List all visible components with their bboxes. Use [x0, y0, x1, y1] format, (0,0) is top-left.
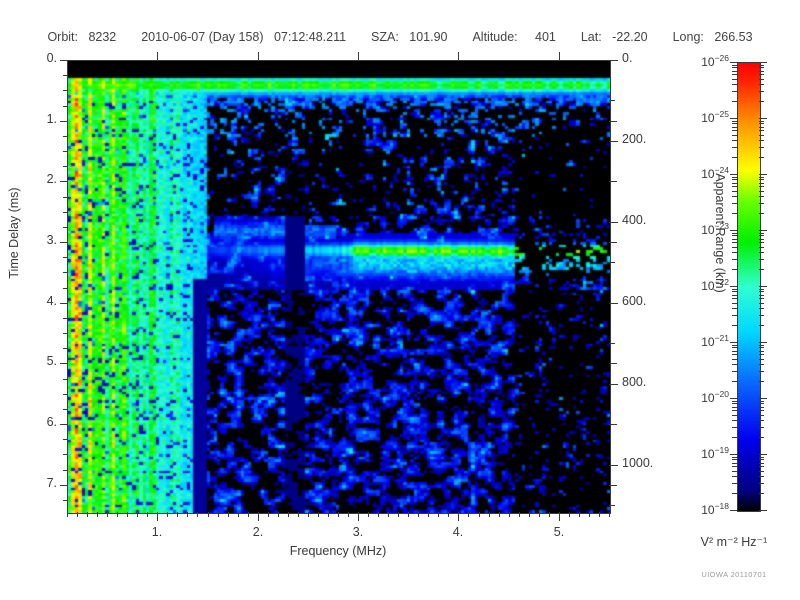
colorbar-minor-tick: [732, 196, 737, 197]
colorbar-minor-tick: [732, 347, 737, 348]
colorbar-minor-tick: [759, 135, 764, 136]
axis-tick: [258, 52, 259, 60]
axis-tick: [288, 512, 289, 517]
axis-tick: [63, 333, 68, 334]
colorbar-minor-tick: [759, 65, 764, 66]
axis-tick: [63, 257, 68, 258]
colorbar-minor-tick: [759, 345, 764, 346]
axis-tick: [328, 512, 329, 517]
axis-tick: [519, 512, 520, 517]
colorbar-minor-tick: [732, 303, 737, 304]
axis-tick: [63, 318, 68, 319]
ionogram-heatmap: [68, 61, 610, 513]
axis-tick: [609, 424, 615, 425]
axis-tick: [117, 512, 118, 517]
colorbar-minor-tick: [732, 483, 737, 484]
colorbar-minor-tick: [732, 427, 737, 428]
colorbar-minor-tick: [732, 463, 737, 464]
colorbar-tick: [730, 118, 738, 119]
axis-tick: [60, 242, 68, 243]
latitude-label: Lat:: [581, 30, 602, 44]
axis-tick: [63, 166, 68, 167]
x-tick-label: 4.: [438, 525, 478, 539]
colorbar-minor-tick: [759, 191, 764, 192]
colorbar-tick-label: 10−21: [673, 333, 729, 349]
colorbar-tick: [730, 510, 738, 511]
orbit-value: 8232: [88, 30, 116, 44]
colorbar-minor-tick: [759, 179, 764, 180]
axis-tick: [278, 512, 279, 517]
axis-tick: [60, 485, 68, 486]
axis-tick: [107, 512, 108, 517]
colorbar-minor-tick: [759, 242, 764, 243]
colorbar-minor-tick: [732, 381, 737, 382]
colorbar-minor-tick: [732, 235, 737, 236]
colorbar-minor-tick: [759, 130, 764, 131]
colorbar-tick: [759, 118, 767, 119]
colorbar-minor-tick: [759, 407, 764, 408]
axis-tick: [458, 52, 459, 60]
colorbar-minor-tick: [759, 401, 764, 402]
axis-tick: [458, 512, 459, 521]
colorbar-minor-tick: [732, 371, 737, 372]
colorbar-minor-tick: [732, 242, 737, 243]
sza-value: 101.90: [409, 30, 447, 44]
colorbar-minor-tick: [732, 437, 737, 438]
colorbar-minor-tick: [732, 130, 737, 131]
colorbar-minor-tick: [759, 420, 764, 421]
axis-tick: [438, 512, 439, 517]
colorbar-tick: [730, 230, 738, 231]
axis-tick: [298, 512, 299, 517]
x-tick-label: 5.: [539, 525, 579, 539]
colorbar-minor-tick: [759, 298, 764, 299]
latitude-value: -22.20: [612, 30, 647, 44]
colorbar-tick-label: 10−25: [673, 109, 729, 125]
axis-tick: [468, 512, 469, 517]
axis-tick: [60, 121, 68, 122]
axis-tick: [60, 181, 68, 182]
colorbar-tick: [759, 286, 767, 287]
colorbar-tick: [730, 342, 738, 343]
colorbar-minor-tick: [759, 457, 764, 458]
colorbar-tick: [759, 62, 767, 63]
axis-tick: [609, 343, 615, 344]
colorbar-minor-tick: [759, 325, 764, 326]
colorbar-minor-tick: [732, 325, 737, 326]
axis-tick: [378, 512, 379, 517]
colorbar-minor-tick: [732, 359, 737, 360]
colorbar-minor-tick: [759, 157, 764, 158]
axis-tick: [428, 512, 429, 517]
colorbar-minor-tick: [732, 269, 737, 270]
colorbar-minor-tick: [759, 239, 764, 240]
axis-tick: [609, 303, 618, 304]
colorbar-tick: [730, 286, 738, 287]
axis-tick: [489, 512, 490, 517]
axis-tick: [63, 379, 68, 380]
colorbar-minor-tick: [759, 371, 764, 372]
colorbar-tick: [759, 342, 767, 343]
axis-tick: [197, 512, 198, 517]
colorbar-minor-tick: [759, 493, 764, 494]
colorbar-minor-tick: [759, 351, 764, 352]
colorbar-minor-tick: [732, 183, 737, 184]
axis-tick: [609, 60, 618, 61]
colorbar-minor-tick: [732, 101, 737, 102]
colorbar-minor-tick: [759, 381, 764, 382]
colorbar-minor-tick: [759, 121, 764, 122]
axis-tick: [348, 512, 349, 517]
axis-tick: [63, 151, 68, 152]
y2-tick-label: 800.: [622, 375, 682, 389]
colorbar-minor-tick: [759, 459, 764, 460]
colorbar-tick: [759, 230, 767, 231]
colorbar-minor-tick: [759, 303, 764, 304]
colorbar-minor-tick: [759, 289, 764, 290]
axis-tick: [479, 512, 480, 517]
axis-tick: [499, 512, 500, 517]
colorbar-minor-tick: [732, 351, 737, 352]
colorbar-minor-tick: [759, 471, 764, 472]
colorbar-minor-tick: [759, 91, 764, 92]
axis-tick: [60, 424, 68, 425]
axis-tick: [268, 512, 269, 517]
colorbar-minor-tick: [759, 84, 764, 85]
observation-date: 2010-06-07 (Day 158): [141, 30, 263, 44]
colorbar-minor-tick: [732, 407, 737, 408]
axis-tick: [63, 106, 68, 107]
axis-tick: [418, 512, 419, 517]
axis-tick: [609, 485, 617, 486]
axis-tick: [63, 439, 68, 440]
colorbar-tick: [730, 174, 738, 175]
axis-tick: [63, 90, 68, 91]
axis-tick: [609, 505, 615, 506]
colorbar-minor-tick: [732, 79, 737, 80]
colorbar-minor-tick: [759, 147, 764, 148]
colorbar-minor-tick: [732, 252, 737, 253]
colorbar-tick-label: 10−23: [673, 221, 729, 237]
orbit-label: Orbit:: [47, 30, 78, 44]
colorbar-minor-tick: [732, 420, 737, 421]
colorbar-minor-tick: [759, 354, 764, 355]
x-tick-label: 3.: [338, 525, 378, 539]
axis-tick: [609, 363, 617, 364]
y-axis-label: Time Delay (ms): [7, 153, 21, 313]
y-tick-label: 0.: [13, 51, 57, 65]
colorbar-minor-tick: [759, 79, 764, 80]
colorbar-minor-tick: [732, 345, 737, 346]
colorbar-tick: [730, 62, 738, 63]
axis-tick: [308, 512, 309, 517]
axis-tick: [559, 512, 560, 521]
axis-tick: [398, 512, 399, 517]
axis-tick: [368, 512, 369, 517]
axis-tick: [63, 197, 68, 198]
colorbar-minor-tick: [759, 295, 764, 296]
axis-tick: [609, 181, 615, 182]
axis-tick: [228, 512, 229, 517]
axis-tick: [609, 465, 618, 466]
colorbar-tick-label: 10−18: [673, 501, 729, 517]
colorbar-minor-tick: [759, 127, 764, 128]
colorbar-tick: [759, 454, 767, 455]
axis-tick: [609, 512, 610, 517]
colorbar-tick: [759, 510, 767, 511]
colorbar-minor-tick: [732, 123, 737, 124]
axis-tick: [579, 512, 580, 517]
axis-tick: [63, 470, 68, 471]
axis-tick: [569, 512, 570, 517]
colorbar-tick: [759, 174, 767, 175]
colorbar-minor-tick: [732, 233, 737, 234]
colorbar-minor-tick: [732, 364, 737, 365]
colorbar-tick-label: 10−26: [673, 53, 729, 69]
colorbar-minor-tick: [759, 347, 764, 348]
axis-tick: [67, 512, 68, 517]
ionogram-figure: Orbit: 8232 2010-06-07 (Day 158) 07:12:4…: [0, 0, 800, 600]
colorbar-minor-tick: [732, 179, 737, 180]
y-tick-label: 6.: [13, 415, 57, 429]
axis-tick: [318, 512, 319, 517]
axis-tick: [63, 75, 68, 76]
colorbar-minor-tick: [732, 459, 737, 460]
axis-tick: [248, 512, 249, 517]
colorbar-tick-label: 10−24: [673, 165, 729, 181]
axis-tick: [137, 512, 138, 517]
axis-tick: [87, 512, 88, 517]
colorbar-minor-tick: [759, 140, 764, 141]
colorbar-tick-label: 10−20: [673, 389, 729, 405]
longitude-value: 266.53: [714, 30, 752, 44]
axis-tick: [549, 512, 550, 517]
colorbar-minor-tick: [732, 466, 737, 467]
axis-tick: [63, 136, 68, 137]
colorbar-minor-tick: [732, 354, 737, 355]
axis-tick: [609, 242, 617, 243]
colorbar-minor-tick: [732, 410, 737, 411]
colorbar-minor-tick: [732, 213, 737, 214]
colorbar-minor-tick: [732, 247, 737, 248]
colorbar-minor-tick: [732, 457, 737, 458]
colorbar-minor-tick: [759, 483, 764, 484]
colorbar-minor-tick: [732, 71, 737, 72]
axis-tick: [63, 288, 68, 289]
colorbar-minor-tick: [732, 298, 737, 299]
colorbar: [737, 62, 761, 512]
figure-credit: UIOWA 20110701: [668, 570, 800, 579]
colorbar-minor-tick: [732, 315, 737, 316]
colorbar-minor-tick: [732, 157, 737, 158]
colorbar-minor-tick: [759, 123, 764, 124]
axis-tick: [218, 512, 219, 517]
axis-tick: [599, 512, 600, 517]
axis-tick: [238, 512, 239, 517]
axis-tick: [147, 512, 148, 517]
axis-tick: [60, 303, 68, 304]
axis-tick: [358, 512, 359, 521]
axis-tick: [609, 262, 615, 263]
axis-tick: [157, 52, 158, 60]
colorbar-minor-tick: [732, 308, 737, 309]
axis-tick: [609, 100, 615, 101]
colorbar-minor-tick: [732, 147, 737, 148]
colorbar-minor-tick: [732, 191, 737, 192]
colorbar-minor-tick: [759, 186, 764, 187]
colorbar-minor-tick: [759, 315, 764, 316]
colorbar-minor-tick: [759, 71, 764, 72]
observation-time: 07:12:48.211: [274, 30, 346, 44]
sza-label: SZA:: [371, 30, 399, 44]
altitude-label: Altitude:: [472, 30, 517, 44]
colorbar-minor-tick: [732, 127, 737, 128]
axis-tick: [609, 384, 618, 385]
colorbar-minor-tick: [732, 403, 737, 404]
colorbar-minor-tick: [759, 476, 764, 477]
axis-tick: [63, 454, 68, 455]
figure-header: Orbit: 8232 2010-06-07 (Day 158) 07:12:4…: [0, 30, 800, 44]
y2-tick-label: 200.: [622, 132, 682, 146]
colorbar-tick-label: 10−19: [673, 445, 729, 461]
colorbar-minor-tick: [759, 213, 764, 214]
colorbar-tick: [730, 454, 738, 455]
colorbar-minor-tick: [759, 415, 764, 416]
longitude-label: Long:: [673, 30, 704, 44]
y-tick-label: 5.: [13, 354, 57, 368]
colorbar-minor-tick: [732, 84, 737, 85]
ionogram-plot-area: [67, 60, 611, 514]
axis-tick: [609, 141, 618, 142]
axis-tick: [509, 512, 510, 517]
axis-tick: [63, 409, 68, 410]
colorbar-minor-tick: [732, 65, 737, 66]
axis-tick: [63, 500, 68, 501]
colorbar-minor-tick: [732, 471, 737, 472]
colorbar-minor-tick: [732, 289, 737, 290]
colorbar-minor-tick: [759, 252, 764, 253]
x-tick-label: 1.: [137, 525, 177, 539]
colorbar-minor-tick: [759, 101, 764, 102]
axis-tick: [127, 512, 128, 517]
colorbar-minor-tick: [759, 269, 764, 270]
x-tick-label: 2.: [238, 525, 278, 539]
axis-tick: [258, 512, 259, 521]
colorbar-minor-tick: [732, 259, 737, 260]
axis-tick: [589, 512, 590, 517]
axis-tick: [60, 60, 68, 61]
colorbar-minor-tick: [759, 359, 764, 360]
axis-tick: [187, 512, 188, 517]
colorbar-tick: [730, 398, 738, 399]
colorbar-minor-tick: [759, 427, 764, 428]
colorbar-minor-tick: [732, 177, 737, 178]
axis-tick: [157, 512, 158, 521]
axis-tick: [97, 512, 98, 517]
colorbar-gradient: [738, 63, 760, 511]
colorbar-minor-tick: [732, 203, 737, 204]
colorbar-minor-tick: [759, 463, 764, 464]
colorbar-minor-tick: [759, 259, 764, 260]
colorbar-unit-label: V² m⁻² Hz⁻¹: [668, 534, 800, 549]
colorbar-minor-tick: [759, 233, 764, 234]
colorbar-minor-tick: [759, 308, 764, 309]
colorbar-minor-tick: [759, 183, 764, 184]
colorbar-minor-tick: [759, 410, 764, 411]
axis-tick: [167, 512, 168, 517]
altitude-value: 401: [535, 30, 556, 44]
axis-tick: [208, 512, 209, 517]
colorbar-minor-tick: [759, 364, 764, 365]
axis-tick: [609, 222, 618, 223]
axis-tick: [63, 227, 68, 228]
colorbar-minor-tick: [759, 437, 764, 438]
colorbar-minor-tick: [732, 135, 737, 136]
colorbar-minor-tick: [759, 466, 764, 467]
colorbar-minor-tick: [732, 67, 737, 68]
axis-tick: [388, 512, 389, 517]
colorbar-minor-tick: [759, 177, 764, 178]
axis-tick: [177, 512, 178, 517]
x-axis-label: Frequency (MHz): [67, 544, 609, 558]
colorbar-minor-tick: [732, 186, 737, 187]
axis-tick: [539, 512, 540, 517]
colorbar-tick: [759, 398, 767, 399]
colorbar-tick-label: 10−22: [673, 277, 729, 293]
axis-tick: [529, 512, 530, 517]
y2-tick-label: 600.: [622, 294, 682, 308]
colorbar-minor-tick: [732, 401, 737, 402]
axis-tick: [63, 212, 68, 213]
colorbar-minor-tick: [759, 247, 764, 248]
axis-tick: [63, 394, 68, 395]
colorbar-minor-tick: [759, 235, 764, 236]
colorbar-minor-tick: [732, 291, 737, 292]
axis-tick: [448, 512, 449, 517]
axis-tick: [559, 52, 560, 60]
colorbar-minor-tick: [732, 121, 737, 122]
axis-tick: [609, 121, 617, 122]
colorbar-minor-tick: [732, 415, 737, 416]
colorbar-minor-tick: [732, 239, 737, 240]
axis-tick: [77, 512, 78, 517]
colorbar-minor-tick: [759, 403, 764, 404]
y-tick-label: 1.: [13, 112, 57, 126]
colorbar-minor-tick: [732, 493, 737, 494]
axis-tick: [338, 512, 339, 517]
colorbar-minor-tick: [759, 67, 764, 68]
axis-tick: [63, 348, 68, 349]
colorbar-minor-tick: [759, 196, 764, 197]
colorbar-minor-tick: [732, 295, 737, 296]
axis-tick: [408, 512, 409, 517]
colorbar-minor-tick: [759, 203, 764, 204]
axis-tick: [60, 363, 68, 364]
colorbar-minor-tick: [759, 74, 764, 75]
colorbar-minor-tick: [759, 291, 764, 292]
axis-tick: [358, 52, 359, 60]
y-tick-label: 7.: [13, 476, 57, 490]
axis-tick: [63, 272, 68, 273]
colorbar-minor-tick: [732, 91, 737, 92]
colorbar-minor-tick: [732, 476, 737, 477]
colorbar-minor-tick: [732, 74, 737, 75]
colorbar-minor-tick: [732, 140, 737, 141]
